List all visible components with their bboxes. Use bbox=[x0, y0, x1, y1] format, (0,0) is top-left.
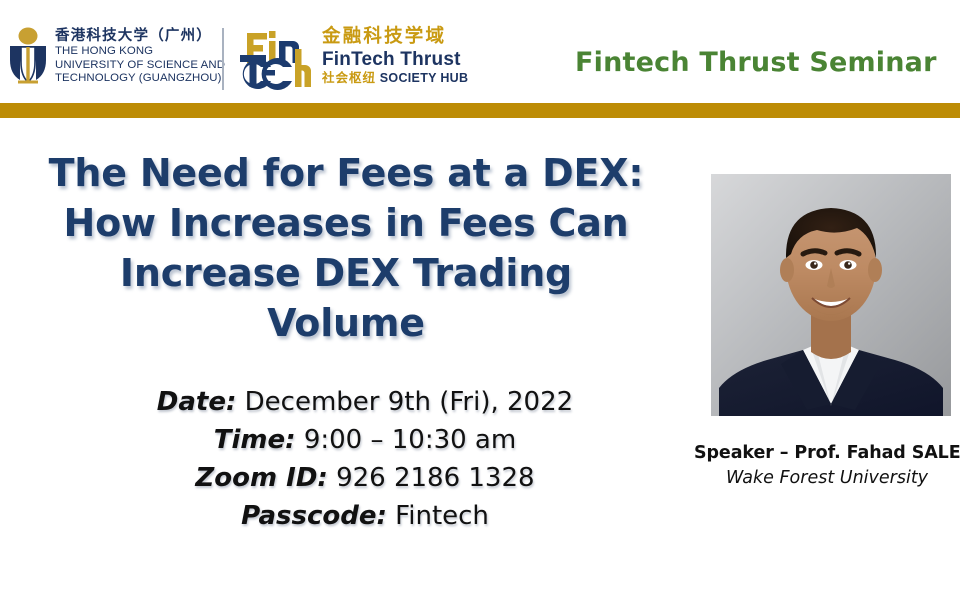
thrust-society-hub-label: 社会枢纽 SOCIETY HUB bbox=[322, 72, 468, 85]
hkust-english-line-2: UNIVERSITY OF SCIENCE AND bbox=[55, 59, 225, 73]
talk-title-line-3: Increase DEX Trading bbox=[0, 248, 692, 298]
thrust-sub-english: SOCIETY HUB bbox=[380, 71, 469, 85]
detail-row-zoom-id: Zoom ID: 926 2186 1328 bbox=[0, 459, 730, 497]
detail-label-zoom-id: Zoom ID: bbox=[195, 463, 327, 493]
detail-row-passcode: Passcode: Fintech bbox=[0, 497, 730, 535]
speaker-portrait-photo bbox=[711, 174, 951, 416]
detail-row-time: Time: 9:00 – 10:30 am bbox=[0, 421, 730, 459]
hkust-wordmark: 香港科技大学（广州） THE HONG KONG UNIVERSITY OF S… bbox=[55, 28, 225, 86]
talk-title: The Need for Fees at a DEX: How Increase… bbox=[0, 148, 692, 348]
fintech-thrust-wordmark: 金融科技学域 FinTech Thrust 社会枢纽 SOCIETY HUB bbox=[322, 28, 468, 84]
seminar-series-title: Fintech Thrust Seminar bbox=[575, 47, 937, 78]
fintech-logo-icon bbox=[238, 29, 318, 93]
speaker-name: Speaker – Prof. Fahad SALEH bbox=[694, 441, 960, 466]
detail-label-passcode: Passcode: bbox=[241, 501, 387, 531]
detail-value-date: December 9th (Fri), 2022 bbox=[245, 387, 574, 417]
detail-row-date: Date: December 9th (Fri), 2022 bbox=[0, 383, 730, 421]
detail-value-passcode: Fintech bbox=[395, 501, 489, 531]
speaker-photo bbox=[711, 174, 951, 416]
detail-label-date: Date: bbox=[157, 387, 237, 417]
poster-header: 香港科技大学（广州） THE HONG KONG UNIVERSITY OF S… bbox=[0, 0, 960, 103]
hkust-english-line-3: TECHNOLOGY (GUANGZHOU) bbox=[55, 72, 225, 86]
thrust-english-label: FinTech Thrust bbox=[322, 50, 468, 69]
hkust-logo: 香港科技大学（广州） THE HONG KONG UNIVERSITY OF S… bbox=[8, 26, 225, 88]
speaker-caption: Speaker – Prof. Fahad SALEH Wake Forest … bbox=[694, 441, 960, 491]
detail-value-time: 9:00 – 10:30 am bbox=[304, 425, 516, 455]
logo-divider bbox=[222, 28, 224, 90]
speaker-affiliation: Wake Forest University bbox=[694, 466, 960, 491]
event-details: Date: December 9th (Fri), 2022 Time: 9:0… bbox=[0, 383, 730, 535]
detail-value-zoom-id: 926 2186 1328 bbox=[336, 463, 535, 493]
thrust-chinese-label: 金融科技学域 bbox=[322, 28, 468, 47]
hkust-chinese-name: 香港科技大学（广州） bbox=[55, 28, 225, 45]
hkust-emblem-icon bbox=[8, 26, 48, 88]
talk-title-line-4: Volume bbox=[0, 298, 692, 348]
detail-label-time: Time: bbox=[214, 425, 296, 455]
hkust-english-line-1: THE HONG KONG bbox=[55, 45, 225, 59]
talk-title-line-2: How Increases in Fees Can bbox=[0, 198, 692, 248]
thrust-sub-chinese: 社会枢纽 bbox=[322, 70, 376, 85]
gold-divider-bar bbox=[0, 103, 960, 118]
talk-title-line-1: The Need for Fees at a DEX: bbox=[0, 148, 692, 198]
